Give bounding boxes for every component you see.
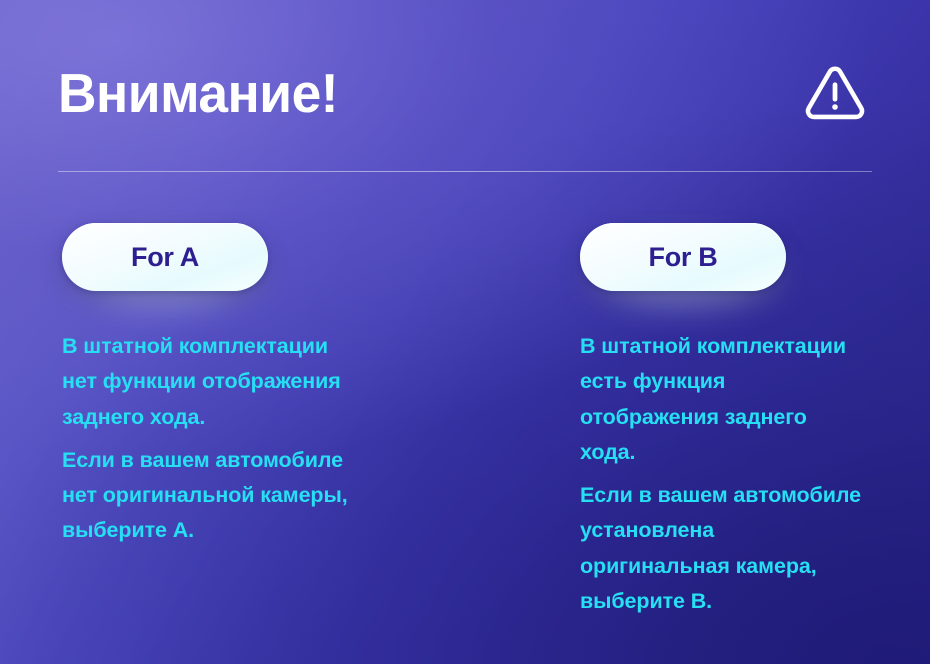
option-b-paragraph-2: Если в вашем автомобиле установлена ориг… (580, 478, 868, 619)
page-title: Внимание! (58, 66, 338, 121)
content-area: Внимание! For A В шта (0, 0, 930, 664)
option-a-paragraph-1: В штатной комплектации нет функции отобр… (62, 329, 350, 435)
header-divider (58, 171, 872, 172)
for-a-button[interactable]: For A (62, 223, 268, 291)
option-column-a: For A В штатной комплектации нет функции… (62, 223, 350, 619)
warning-triangle-icon (802, 60, 868, 126)
option-column-b: For B В штатной комплектации есть функци… (580, 223, 868, 619)
for-b-button-label: For B (649, 244, 718, 271)
for-a-button-label: For A (131, 244, 199, 271)
warning-notice-screen: Внимание! For A В шта (0, 0, 930, 664)
pill-wrapper-b: For B (580, 223, 786, 291)
option-a-paragraph-2: Если в вашем автомобиле нет оригинальной… (62, 443, 350, 549)
header: Внимание! (58, 52, 872, 134)
option-b-paragraph-1: В штатной комплектации есть функция отоб… (580, 329, 868, 470)
pill-wrapper-a: For A (62, 223, 268, 291)
for-b-button[interactable]: For B (580, 223, 786, 291)
options-container: For A В штатной комплектации нет функции… (62, 223, 868, 619)
